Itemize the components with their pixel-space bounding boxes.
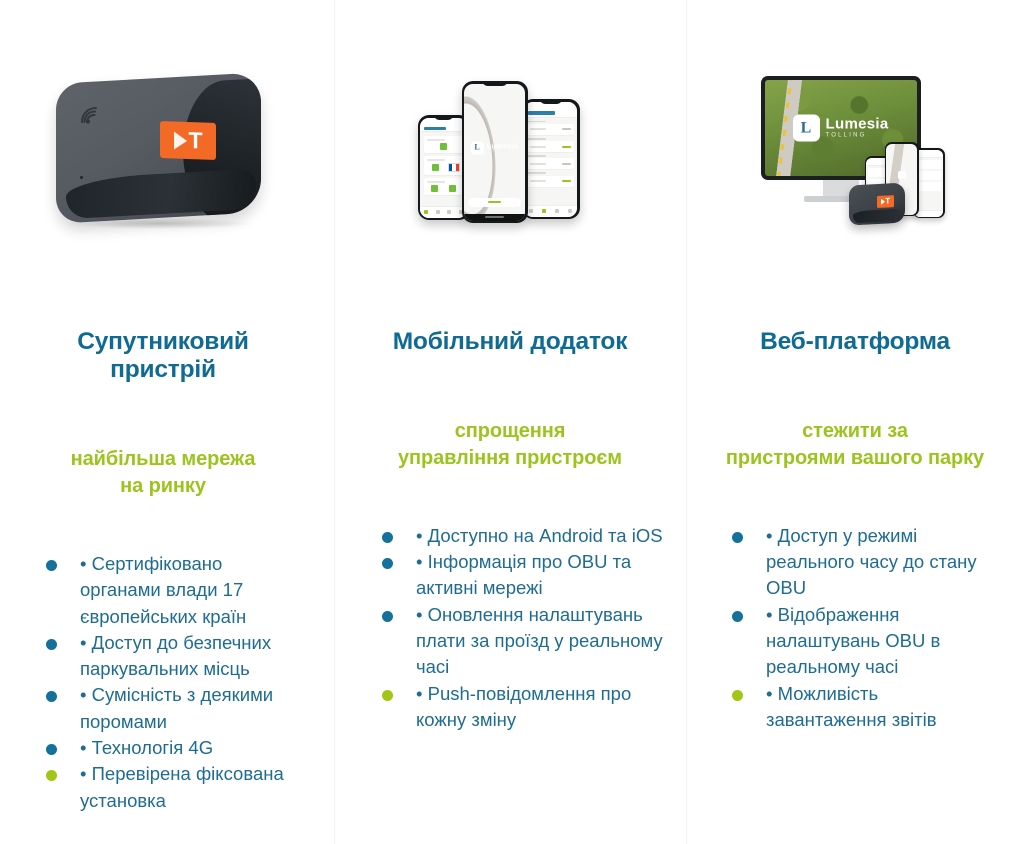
logo-letter-t: T	[885, 197, 890, 205]
configuration-screen	[524, 102, 577, 217]
logo-letter-t: T	[188, 129, 201, 152]
phone-mockup-splash: L Lumesia TOLLING	[462, 81, 528, 223]
bullet-icon	[382, 558, 393, 569]
brand-logo-badge: T	[160, 121, 216, 160]
bullet-icon-highlight	[382, 690, 393, 701]
bullet-icon-highlight	[732, 690, 743, 701]
bullet-icon	[382, 611, 393, 622]
settings-group	[527, 138, 574, 152]
obu-device-dark-band	[66, 168, 256, 219]
brand-tagline: TOLLING	[487, 150, 519, 153]
settings-row[interactable]	[527, 124, 574, 135]
subtitle-line: найбільша мережа	[71, 448, 256, 470]
bullet-icon	[46, 744, 57, 755]
feature-text: • Доступ до безпечних паркувальних місць	[80, 630, 304, 683]
settings-group	[527, 121, 574, 135]
obu-device-small-illustration: T	[849, 183, 905, 226]
brand-tagline: TOLLING	[826, 133, 889, 139]
wifi-signal-icon	[78, 104, 104, 131]
tab-icon[interactable]	[447, 210, 451, 214]
play-triangle-icon	[880, 199, 884, 205]
phone-notch	[539, 99, 561, 104]
list-item: • Інформація про OBU та активні мережі	[356, 549, 664, 602]
settings-row[interactable]	[527, 176, 574, 187]
feature-text: • Сертифіковано органами влади 17 європе…	[80, 551, 304, 630]
column-subtitle: найбільша мережа на ринку	[22, 384, 304, 499]
primary-cta-button[interactable]	[468, 198, 520, 207]
tab-icon[interactable]	[542, 209, 546, 213]
settings-row[interactable]	[527, 158, 574, 169]
feature-text: • Технологія 4G	[80, 735, 304, 761]
list-item: • Оновлення налаштувань плати за проїзд …	[356, 602, 664, 681]
list-item: • Доступ у режимі реального часу до стан…	[708, 523, 1002, 602]
list-item: • Технологія 4G	[22, 735, 304, 761]
led-indicator-icon	[80, 176, 83, 179]
subtitle-line: управління пристроєм	[398, 447, 622, 469]
settings-group	[527, 172, 574, 186]
device-drop-shadow	[70, 218, 250, 229]
three-column-grid: T Супутниковий пристрій найбільша мережа…	[0, 0, 1024, 844]
brand-wordmark: Lumesia TOLLING	[487, 142, 519, 153]
dashboard-screen	[420, 118, 467, 218]
feature-text: • Можливість завантаження звітів	[766, 681, 1002, 734]
tab-icon[interactable]	[555, 209, 559, 213]
play-triangle-icon	[174, 131, 187, 149]
list-item: • Відображення налаштувань OBU в реально…	[708, 602, 1002, 681]
phone-notch	[482, 81, 507, 86]
column-mobile-app: L Lumesia TOLLING	[334, 0, 686, 844]
status-ok-icon	[440, 143, 447, 150]
bullet-icon	[732, 611, 743, 622]
feature-text: • Відображення налаштувань OBU в реально…	[766, 602, 1002, 681]
settings-row[interactable]	[527, 141, 574, 152]
actions-card	[424, 178, 463, 195]
status-card	[424, 136, 463, 153]
lumesia-logo-icon	[898, 171, 906, 179]
phone-tabbar[interactable]	[420, 206, 467, 218]
lumesia-logo-icon: L	[471, 141, 484, 154]
brand-splash: L Lumesia TOLLING	[793, 115, 889, 142]
list-item: • Доступ до безпечних паркувальних місць	[22, 630, 304, 683]
list-item: • Сумісність з деякими поромами	[22, 682, 304, 735]
feature-text: • Push-повідомлення про кожну зміну	[416, 681, 664, 734]
product-feature-section: T Супутниковий пристрій найбільша мережа…	[0, 0, 1024, 844]
network-card	[424, 156, 463, 175]
list-item: • Перевірена фіксована установка	[22, 761, 304, 814]
settings-group	[527, 155, 574, 169]
phone-mockup-configuration	[522, 99, 580, 219]
brand-logo-badge: T	[877, 195, 894, 208]
brand-splash: L Lumesia TOLLING	[471, 141, 519, 154]
phone-mockups-illustration: L Lumesia TOLLING	[418, 75, 603, 225]
feature-list: • Доступ у режимі реального часу до стан…	[708, 471, 1002, 733]
action-icon	[449, 185, 456, 192]
mobile-app-phones-photo: L Lumesia TOLLING	[356, 0, 664, 300]
status-ok-icon	[432, 164, 439, 171]
obu-device-body	[56, 72, 261, 223]
column-web-platform: L Lumesia TOLLING	[686, 0, 1024, 844]
lumesia-logo-icon: L	[793, 115, 820, 142]
obu-device-illustration: T	[56, 78, 271, 223]
feature-list: • Сертифіковано органами влади 17 європе…	[22, 499, 304, 814]
list-item: • Можливість завантаження звітів	[708, 681, 1002, 734]
bullet-icon	[46, 691, 57, 702]
subtitle-line: спрощення	[455, 420, 566, 442]
action-icon	[431, 185, 438, 192]
list-item: • Push-повідомлення про кожну зміну	[356, 681, 664, 734]
tab-icon[interactable]	[568, 209, 572, 213]
tab-icon[interactable]	[424, 210, 428, 214]
led-indicator-icon	[204, 100, 207, 103]
home-indicator	[464, 214, 525, 221]
bullet-icon	[46, 560, 57, 571]
tab-icon[interactable]	[529, 209, 533, 213]
subtitle-line: на ринку	[120, 475, 206, 497]
feature-text: • Оновлення налаштувань плати за проїзд …	[416, 602, 664, 681]
list-item: • Доступно на Android та iOS	[356, 523, 664, 549]
feature-text: • Доступ у режимі реального часу до стан…	[766, 523, 1002, 602]
column-subtitle: спрощення управління пристроєм	[356, 356, 664, 471]
list-item: • Сертифіковано органами влади 17 європе…	[22, 551, 304, 630]
bullet-icon	[732, 532, 743, 543]
bullet-icon	[46, 639, 57, 650]
page-title: Мобільний додаток	[356, 300, 664, 356]
brand-wordmark: Lumesia TOLLING	[826, 117, 889, 139]
column-subtitle: стежити за пристроями вашого парку	[708, 356, 1002, 471]
web-platform-devices-photo: L Lumesia TOLLING	[708, 0, 1002, 300]
subtitle-line: стежити за	[802, 420, 908, 442]
brand-name: Lumesia	[826, 117, 889, 133]
web-platform-illustration: L Lumesia TOLLING	[753, 76, 958, 224]
feature-list: • Доступно на Android та iOS • Інформаці…	[356, 471, 664, 733]
tab-icon[interactable]	[436, 210, 440, 214]
feature-text: • Сумісність з деякими поромами	[80, 682, 304, 735]
page-title: Супутниковий пристрій	[22, 300, 304, 384]
bullet-icon-highlight	[46, 770, 57, 781]
splash-screen: L Lumesia TOLLING	[464, 84, 525, 221]
column-satellite-device: T Супутниковий пристрій найбільша мережа…	[0, 0, 334, 844]
bullet-icon	[382, 532, 393, 543]
screen-body	[420, 132, 467, 206]
screen-body	[524, 118, 577, 205]
flag-fr-icon	[448, 163, 460, 172]
page-title: Веб-платформа	[708, 300, 1002, 356]
obu-device-photo: T	[22, 0, 304, 300]
phone-tabbar[interactable]	[524, 205, 577, 217]
phone-notch	[434, 115, 454, 120]
feature-text: • Перевірена фіксована установка	[80, 761, 304, 814]
feature-text: • Доступно на Android та iOS	[416, 523, 664, 549]
obu-device-dark-band	[853, 209, 901, 224]
subtitle-line: пристроями вашого парку	[726, 447, 984, 469]
feature-text: • Інформація про OBU та активні мережі	[416, 549, 664, 602]
